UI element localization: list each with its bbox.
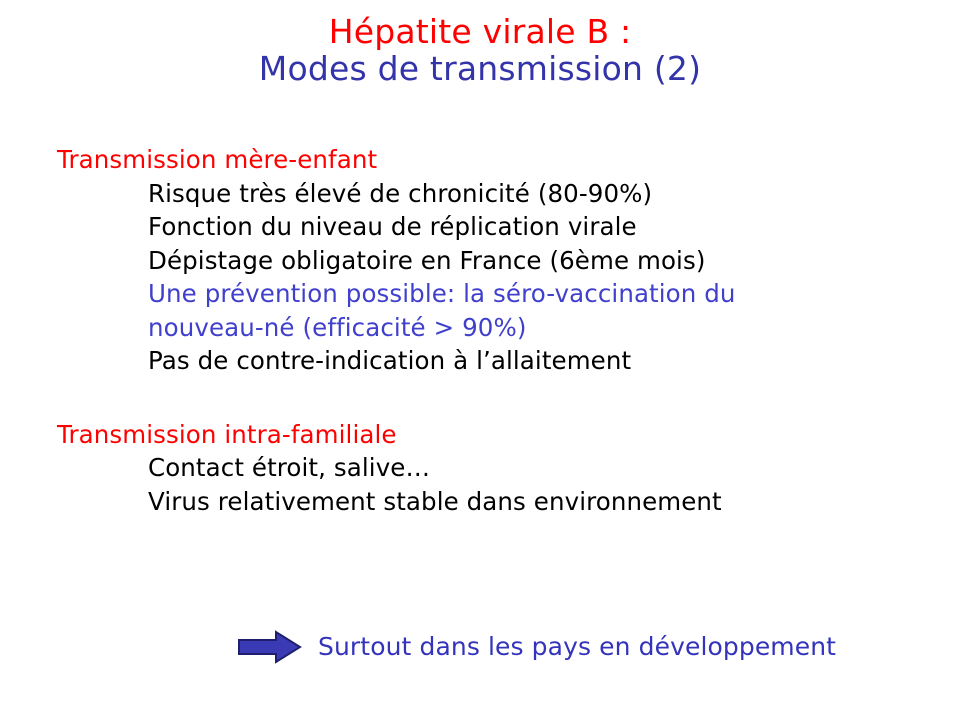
list-item: Risque très élevé de chronicité (80-90%) xyxy=(148,177,937,211)
list-item: Pas de contre-indication à l’allaitement xyxy=(148,344,937,378)
page-title: Hépatite virale B : Modes de transmissio… xyxy=(0,14,960,88)
list-item: nouveau-né (efficacité > 90%) xyxy=(148,311,937,345)
section-spacer xyxy=(57,378,937,418)
section-heading-transmission-intra-familiale: Transmission intra-familiale xyxy=(57,418,937,452)
list-item: Virus relativement stable dans environne… xyxy=(148,485,937,519)
list-item: Contact étroit, salive… xyxy=(148,451,937,485)
title-line-primary: Hépatite virale B : xyxy=(0,14,960,51)
list-item: Dépistage obligatoire en France (6ème mo… xyxy=(148,244,937,278)
list-item: Une prévention possible: la séro-vaccina… xyxy=(148,277,937,311)
slide-canvas: Hépatite virale B : Modes de transmissio… xyxy=(0,0,960,720)
title-line-secondary: Modes de transmission (2) xyxy=(0,51,960,88)
callout-block: Surtout dans les pays en développement xyxy=(238,630,836,664)
callout-text: Surtout dans les pays en développement xyxy=(318,632,836,662)
slide-body: Transmission mère-enfant Risque très éle… xyxy=(57,143,937,518)
right-arrow-icon xyxy=(238,630,302,664)
list-item: Fonction du niveau de réplication virale xyxy=(148,210,937,244)
section-heading-transmission-mere-enfant: Transmission mère-enfant xyxy=(57,143,937,177)
